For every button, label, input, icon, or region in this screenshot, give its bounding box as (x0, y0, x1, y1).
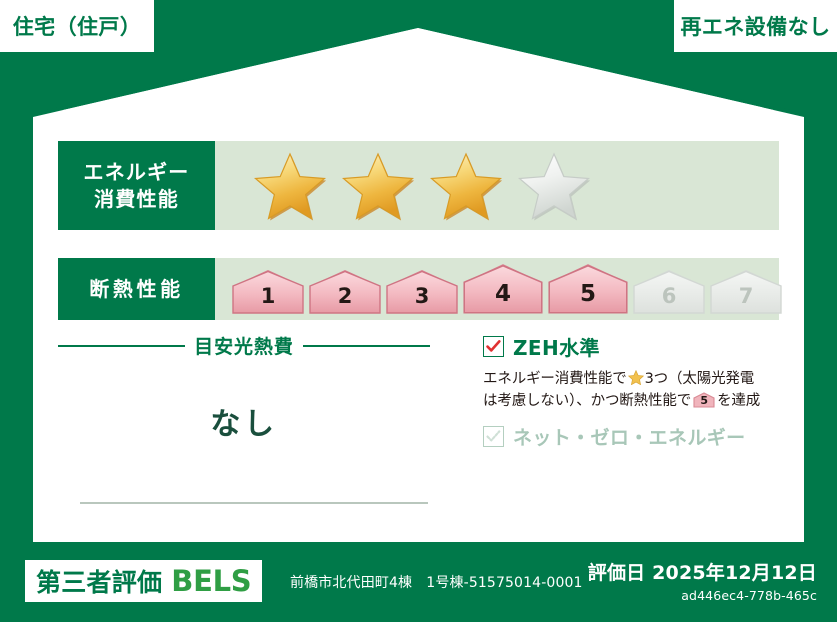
energy-label-line1: エネルギー (84, 159, 190, 185)
lower-section: 目安光熱費 なし ZEH水準 エネルギー消費性能で 3つ（太陽光発電は考慮しない… (58, 332, 779, 522)
insulation-performance-label: 断熱性能 (58, 258, 215, 320)
evaluation-date-block: 評価日 2025年12月12日 ad446ec4-778b-465c (588, 558, 817, 603)
bels-certification-plate: 第三者評価 BELS (25, 560, 262, 602)
bels-japanese-label: 第三者評価 (36, 563, 162, 599)
star-rating (253, 151, 591, 221)
zeh-desc-part3: を達成 (717, 393, 760, 409)
insulation-performance-value: 1234567 (215, 258, 783, 320)
grade-value: 5 (580, 281, 596, 315)
insulation-grade-5: 5 (547, 263, 629, 315)
zeh-desc-part2: は考慮しない）、かつ断熱性能で (483, 393, 691, 409)
bels-energy-label: 住宅（住戸） 再エネ設備なし 建築物省エネ法に基づく 省エネ性能ラベル エネルギ… (0, 0, 837, 622)
insulation-grade-scale: 1234567 (231, 263, 783, 315)
zeh-description: エネルギー消費性能で 3つ（太陽光発電は考慮しない）、かつ断熱性能で 5 を達成 (483, 368, 788, 412)
energy-performance-value (215, 141, 779, 230)
inline-grade-badge: 5 (693, 392, 715, 408)
energy-performance-row: エネルギー 消費性能 (58, 141, 779, 230)
utility-cost-title: 目安光熱費 (194, 332, 294, 359)
star-filled-icon (429, 151, 503, 221)
utility-cost-value: なし (58, 399, 430, 443)
insulation-grade-3: 3 (385, 269, 459, 315)
label-footer: 第三者評価 BELS 前橋市北代田町4棟 1号棟-51575014-0001 評… (0, 550, 837, 622)
evaluation-id: ad446ec4-778b-465c (588, 588, 817, 603)
zeh-column: ZEH水準 エネルギー消費性能で 3つ（太陽光発電は考慮しない）、かつ断熱性能で… (483, 332, 783, 450)
star-filled-icon (253, 151, 327, 221)
utility-cost-header: 目安光熱費 (58, 332, 430, 359)
insulation-performance-row: 断熱性能 1234567 (58, 258, 779, 320)
grade-value: 3 (415, 284, 430, 315)
rule-right (303, 345, 430, 347)
insulation-grade-7: 7 (709, 269, 783, 315)
zeh-standard-line: ZEH水準 (483, 332, 783, 361)
inline-grade-value: 5 (693, 393, 715, 410)
zeh-desc-stars: 3つ（太陽光発電 (645, 371, 755, 387)
insulation-grade-4: 4 (462, 263, 544, 315)
badge-renewable-energy: 再エネ設備なし (674, 0, 837, 52)
grade-value: 6 (662, 284, 677, 315)
net-zero-energy-label: ネット・ゼロ・エネルギー (513, 423, 746, 450)
insulation-grade-6: 6 (632, 269, 706, 315)
site-information: 前橋市北代田町4棟 1号棟-51575014-0001 (290, 572, 583, 592)
star-empty-icon (517, 151, 591, 221)
zeh-checkbox-unchecked (483, 426, 504, 447)
grade-value: 2 (338, 284, 353, 315)
net-zero-energy-line: ネット・ゼロ・エネルギー (483, 423, 783, 450)
label-card: エネルギー 消費性能 断熱性能 1234567 目安光熱費 なし (33, 117, 804, 542)
evaluation-date: 評価日 2025年12月12日 (588, 558, 817, 585)
rule-left (58, 345, 185, 347)
energy-performance-label: エネルギー 消費性能 (58, 141, 215, 230)
inline-star-icon (628, 370, 644, 385)
grade-value: 7 (739, 284, 754, 315)
energy-label-line2: 消費性能 (94, 186, 179, 212)
star-filled-icon (341, 151, 415, 221)
grade-value: 4 (495, 281, 511, 315)
bels-logo-text: BELS (171, 564, 251, 598)
utility-cost-column: 目安光熱費 なし (58, 332, 438, 522)
zeh-checkbox-checked (483, 336, 504, 357)
cost-divider (80, 502, 428, 504)
badge-dwelling-type: 住宅（住戸） (0, 0, 154, 52)
zeh-desc-part1: エネルギー消費性能で (483, 371, 627, 387)
insulation-grade-1: 1 (231, 269, 305, 315)
grade-value: 1 (261, 284, 276, 315)
insulation-grade-2: 2 (308, 269, 382, 315)
zeh-standard-label: ZEH水準 (513, 332, 600, 361)
